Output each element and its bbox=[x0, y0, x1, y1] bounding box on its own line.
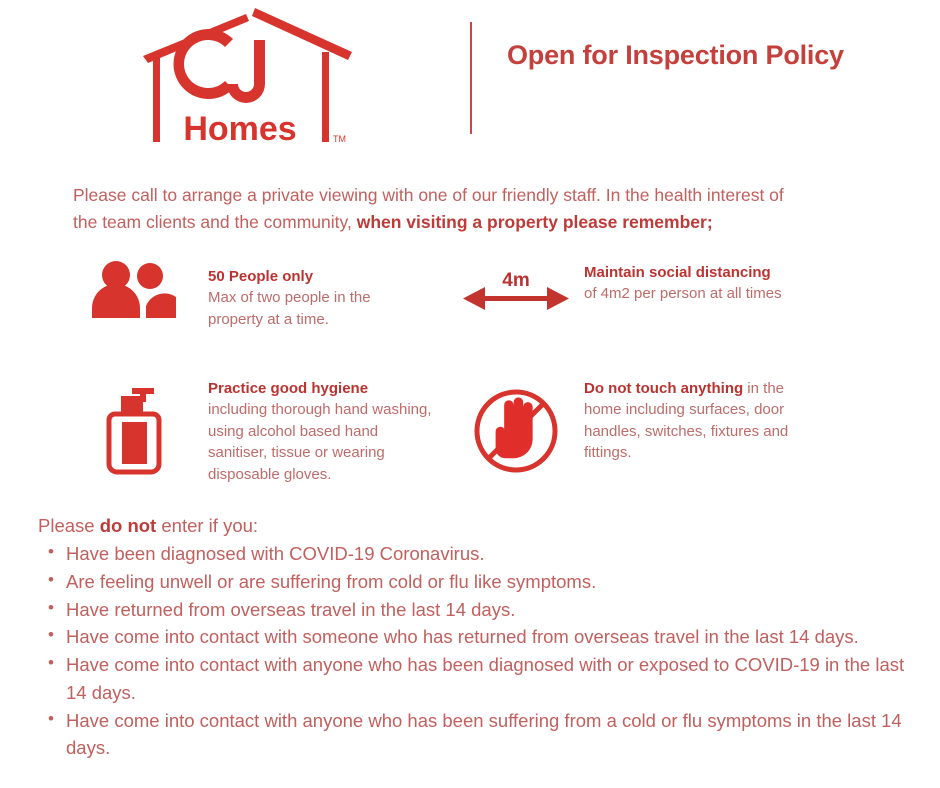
guideline-distance: 4m Maintain social distancing of 4m2 per… bbox=[460, 260, 820, 316]
do-not-enter-lead-before: Please bbox=[38, 515, 100, 536]
list-item: Have come into contact with anyone who h… bbox=[66, 651, 918, 707]
guideline-hygiene-body: including thorough hand washing, using a… bbox=[208, 401, 432, 482]
guideline-people-heading: 50 People only bbox=[208, 268, 313, 285]
guideline-hygiene-heading: Practice good hygiene bbox=[208, 380, 368, 397]
intro-paragraph: Please call to arrange a private viewing… bbox=[73, 182, 797, 236]
cj-homes-logo: Homes TM bbox=[136, 4, 362, 148]
list-item: Have come into contact with someone who … bbox=[66, 623, 918, 651]
guideline-no-touch-heading: Do not touch anything bbox=[584, 380, 743, 397]
do-not-enter-list: Have been diagnosed with COVID-19 Corona… bbox=[38, 540, 918, 762]
header-divider bbox=[470, 22, 472, 134]
two-people-icon bbox=[88, 260, 180, 320]
guideline-distance-heading: Maintain social distancing bbox=[584, 264, 771, 281]
intro-emphasis: when visiting a property please remember… bbox=[357, 212, 713, 232]
guideline-no-touch-text: Do not touch anything in the home includ… bbox=[584, 378, 810, 464]
distance-icon-label: 4m bbox=[502, 270, 529, 291]
guideline-people: 50 People only Max of two people in the … bbox=[88, 260, 418, 330]
guideline-hygiene-text: Practice good hygiene including thorough… bbox=[208, 378, 440, 485]
no-touch-hand-icon bbox=[460, 378, 572, 474]
do-not-enter-lead: Please do not enter if you: bbox=[38, 512, 918, 540]
list-item: Have come into contact with anyone who h… bbox=[66, 707, 918, 763]
svg-text:TM: TM bbox=[333, 134, 346, 144]
list-item: Have returned from overseas travel in th… bbox=[66, 596, 918, 624]
guideline-distance-body: of 4m2 per person at all times bbox=[584, 285, 782, 302]
guideline-no-touch: Do not touch anything in the home includ… bbox=[460, 378, 820, 474]
do-not-enter-lead-after: enter if you: bbox=[156, 515, 258, 536]
social-distance-arrow-icon: 4m bbox=[460, 260, 572, 316]
do-not-enter-section: Please do not enter if you: Have been di… bbox=[38, 512, 918, 762]
page-header: Homes TM Open for Inspection Policy bbox=[0, 0, 940, 152]
svg-text:Homes: Homes bbox=[183, 110, 296, 148]
page-title: Open for Inspection Policy bbox=[507, 36, 867, 76]
guideline-hygiene: Practice good hygiene including thorough… bbox=[88, 378, 448, 485]
list-item: Have been diagnosed with COVID-19 Corona… bbox=[66, 540, 918, 568]
sanitiser-bottle-icon bbox=[88, 378, 180, 476]
guideline-people-text: 50 People only Max of two people in the … bbox=[208, 260, 418, 330]
guideline-distance-text: Maintain social distancing of 4m2 per pe… bbox=[584, 260, 784, 305]
guideline-people-body: Max of two people in the property at a t… bbox=[208, 289, 371, 327]
do-not-enter-lead-emphasis: do not bbox=[100, 515, 157, 536]
list-item: Are feeling unwell or are suffering from… bbox=[66, 568, 918, 596]
